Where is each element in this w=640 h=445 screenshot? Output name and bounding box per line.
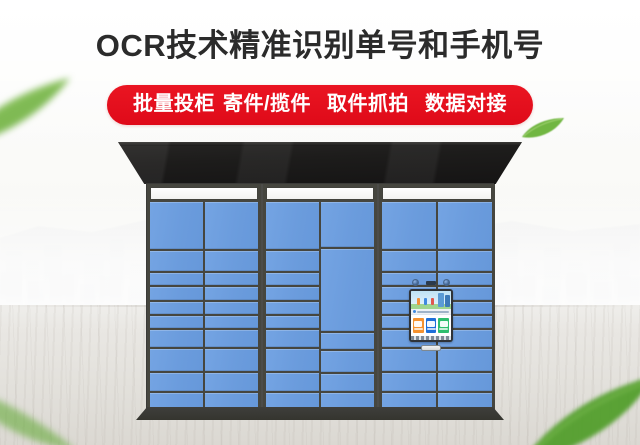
locker-section-left bbox=[147, 184, 261, 412]
banner-person-icon bbox=[424, 298, 427, 305]
locker-door[interactable] bbox=[205, 393, 258, 409]
locker-door[interactable] bbox=[438, 373, 492, 391]
camera-lens-left-icon bbox=[412, 279, 419, 286]
locker-door[interactable] bbox=[150, 287, 203, 299]
locker-door[interactable] bbox=[382, 251, 436, 272]
leaf-bottom-right-icon bbox=[520, 370, 640, 445]
locker-door[interactable] bbox=[382, 393, 436, 409]
locker-body bbox=[146, 183, 494, 411]
door-column bbox=[266, 202, 319, 409]
locker-canopy bbox=[118, 142, 522, 184]
locker-door[interactable] bbox=[150, 302, 203, 314]
locker-door[interactable] bbox=[266, 273, 319, 285]
locker-door[interactable] bbox=[438, 393, 492, 409]
camera-module bbox=[412, 278, 450, 287]
banner-person-icon bbox=[431, 298, 434, 305]
locker-door[interactable] bbox=[150, 373, 203, 391]
locker-door[interactable] bbox=[150, 273, 203, 285]
screen-footer-bar bbox=[411, 336, 451, 340]
locker-door[interactable] bbox=[321, 393, 374, 409]
locker-door[interactable] bbox=[266, 393, 319, 409]
locker-door[interactable] bbox=[266, 302, 319, 314]
canopy-front-lip bbox=[118, 142, 522, 146]
page-title: OCR技术精准识别单号和手机号 bbox=[0, 26, 640, 66]
section-header-strip-right bbox=[382, 187, 492, 200]
banner-locker-graphic bbox=[438, 293, 444, 307]
banner-locker-graphic bbox=[445, 295, 450, 307]
locker-door[interactable] bbox=[382, 202, 436, 249]
section-header-strip-center bbox=[266, 187, 374, 200]
locker-base-plinth bbox=[136, 407, 504, 420]
door-grid-center bbox=[266, 202, 374, 409]
badge-item-2: 寄件/揽件 bbox=[223, 91, 311, 117]
button-label-placeholder bbox=[427, 328, 436, 330]
locker-door[interactable] bbox=[205, 287, 258, 299]
camera-lens-right-icon bbox=[443, 279, 450, 286]
locker-door[interactable] bbox=[266, 349, 319, 371]
badge-item-4: 数据对接 bbox=[425, 91, 507, 117]
ship-button[interactable] bbox=[438, 318, 449, 333]
deposit-button[interactable] bbox=[413, 318, 424, 333]
locker-door[interactable] bbox=[438, 349, 492, 371]
locker-door[interactable] bbox=[150, 202, 203, 249]
kiosk-screen-frame bbox=[409, 289, 453, 342]
locker-door[interactable] bbox=[205, 273, 258, 285]
leaf-top-left-icon bbox=[0, 66, 86, 144]
locker-door[interactable] bbox=[266, 287, 319, 299]
badge-item-3: 取件抓拍 bbox=[327, 91, 409, 117]
locker-door[interactable] bbox=[205, 373, 258, 391]
leaf-top-right-icon bbox=[520, 116, 566, 142]
kiosk-screen[interactable] bbox=[411, 291, 451, 340]
locker-door[interactable] bbox=[266, 330, 319, 346]
button-label-placeholder bbox=[439, 328, 448, 330]
locker-door[interactable] bbox=[321, 351, 374, 372]
locker-door[interactable] bbox=[266, 251, 319, 272]
door-column bbox=[150, 202, 203, 409]
locker-door[interactable] bbox=[266, 373, 319, 391]
kiosk-panel-door[interactable] bbox=[321, 249, 374, 331]
locker-door[interactable] bbox=[205, 302, 258, 314]
locker-door[interactable] bbox=[150, 393, 203, 409]
badge-item-1: 批量投柜 bbox=[133, 91, 215, 117]
door-grid-left bbox=[150, 202, 258, 409]
parcel-icon bbox=[414, 321, 422, 327]
locker-door[interactable] bbox=[321, 374, 374, 391]
door-column bbox=[205, 202, 258, 409]
ir-sensor-icon bbox=[426, 281, 436, 285]
notice-text-placeholder bbox=[417, 311, 449, 313]
door-column-kiosk bbox=[321, 202, 374, 409]
locker-door[interactable] bbox=[438, 202, 492, 249]
smart-parcel-locker bbox=[118, 142, 522, 420]
locker-door[interactable] bbox=[382, 373, 436, 391]
leaf-bottom-left-icon bbox=[0, 382, 80, 445]
locker-door[interactable] bbox=[205, 330, 258, 346]
locker-door[interactable] bbox=[205, 349, 258, 371]
locker-door[interactable] bbox=[438, 251, 492, 272]
locker-door[interactable] bbox=[205, 202, 258, 249]
notice-dot-icon bbox=[413, 310, 416, 313]
banner-person-icon bbox=[417, 298, 420, 305]
locker-section-center bbox=[263, 184, 377, 412]
truck-icon bbox=[440, 321, 448, 327]
locker-door[interactable] bbox=[321, 202, 374, 247]
locker-door[interactable] bbox=[382, 349, 436, 371]
button-label-placeholder bbox=[414, 328, 423, 330]
screen-illustration-banner bbox=[411, 291, 451, 309]
locker-door[interactable] bbox=[150, 330, 203, 346]
kiosk-module bbox=[409, 278, 453, 352]
pickup-button[interactable] bbox=[426, 318, 437, 333]
locker-door[interactable] bbox=[266, 316, 319, 328]
locker-door[interactable] bbox=[150, 349, 203, 371]
locker-door[interactable] bbox=[205, 251, 258, 272]
locker-door[interactable] bbox=[150, 251, 203, 272]
screen-action-buttons bbox=[411, 315, 451, 336]
locker-door[interactable] bbox=[321, 333, 374, 349]
locker-door[interactable] bbox=[150, 316, 203, 328]
barcode-scanner-slot[interactable] bbox=[421, 345, 441, 351]
locker-door[interactable] bbox=[266, 202, 319, 249]
feature-badge: 批量投柜寄件/揽件取件抓拍数据对接 bbox=[107, 85, 533, 125]
locker-door[interactable] bbox=[205, 316, 258, 328]
box-open-icon bbox=[427, 321, 435, 327]
poster-canvas: OCR技术精准识别单号和手机号 批量投柜寄件/揽件取件抓拍数据对接 bbox=[0, 0, 640, 445]
section-header-strip-left bbox=[150, 187, 258, 200]
